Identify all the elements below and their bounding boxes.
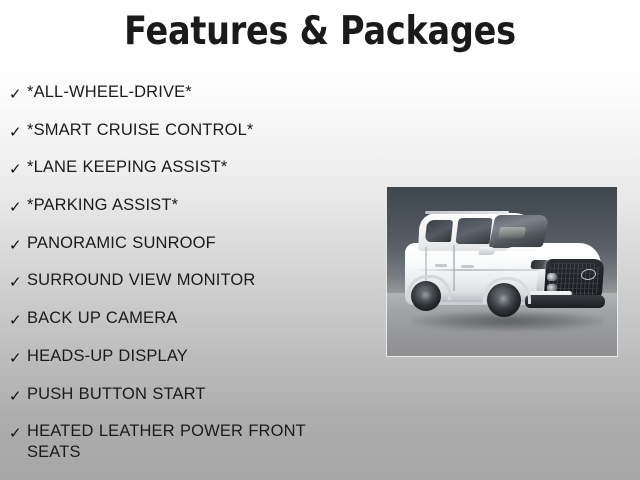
front-window-icon (455, 218, 492, 244)
lower-bumper-icon (524, 295, 605, 308)
list-item: ✓ BACK UP CAMERA (0, 308, 350, 346)
check-icon: ✓ (9, 387, 23, 405)
list-item-label: HEADS-UP DISPLAY (27, 346, 350, 367)
list-item-label: SURROUND VIEW MONITOR (27, 270, 350, 291)
list-item: ✓ PANORAMIC SUNROOF (0, 233, 350, 271)
list-item: ✓ *LANE KEEPING ASSIST* (0, 157, 350, 195)
feature-list: ✓ *ALL-WHEEL-DRIVE* ✓ *SMART CRUISE CONT… (0, 82, 350, 463)
list-item: ✓ HEATED LEATHER POWER FRONT SEATS (0, 421, 350, 463)
check-icon: ✓ (9, 198, 23, 216)
list-item: ✓ PUSH BUTTON START (0, 384, 350, 422)
check-icon: ✓ (9, 349, 23, 367)
page-title: Features & Packages (45, 9, 595, 55)
list-item: ✓ SURROUND VIEW MONITOR (0, 270, 350, 308)
list-item-label: *SMART CRUISE CONTROL* (27, 120, 350, 141)
list-item-label: PUSH BUTTON START (27, 384, 350, 405)
vehicle-photo (386, 186, 618, 357)
check-icon: ✓ (9, 85, 23, 103)
suv-illustration (395, 207, 611, 335)
list-item-label: *PARKING ASSIST* (27, 195, 350, 216)
check-icon: ✓ (9, 311, 23, 329)
check-icon: ✓ (9, 236, 23, 254)
check-icon: ✓ (9, 424, 23, 442)
check-icon: ✓ (9, 123, 23, 141)
roof-rail-icon (425, 211, 509, 214)
side-mirror-icon (478, 247, 495, 255)
headlight-icon (530, 260, 552, 269)
check-icon: ✓ (9, 273, 23, 291)
door-handle-icon (461, 265, 474, 268)
door-handle-icon (435, 264, 447, 267)
rear-window-icon (425, 220, 453, 242)
dash-reflection-icon (498, 227, 526, 238)
list-item-label: *ALL-WHEEL-DRIVE* (27, 82, 350, 103)
list-item: ✓ *SMART CRUISE CONTROL* (0, 120, 350, 158)
check-icon: ✓ (9, 160, 23, 178)
list-item-label: PANORAMIC SUNROOF (27, 233, 350, 254)
lamp-pod-icon (547, 273, 557, 281)
list-item-label: BACK UP CAMERA (27, 308, 350, 329)
slide-canvas: Features & Packages ✓ *ALL-WHEEL-DRIVE* … (0, 0, 640, 480)
list-item-label: HEATED LEATHER POWER FRONT SEATS (27, 421, 350, 463)
wheel-hub-icon (497, 293, 511, 307)
list-item: ✓ *PARKING ASSIST* (0, 195, 350, 233)
list-item: ✓ HEADS-UP DISPLAY (0, 346, 350, 384)
list-item-label: *LANE KEEPING ASSIST* (27, 157, 350, 178)
list-item: ✓ *ALL-WHEEL-DRIVE* (0, 82, 350, 120)
wheel-hub-icon (420, 290, 432, 302)
